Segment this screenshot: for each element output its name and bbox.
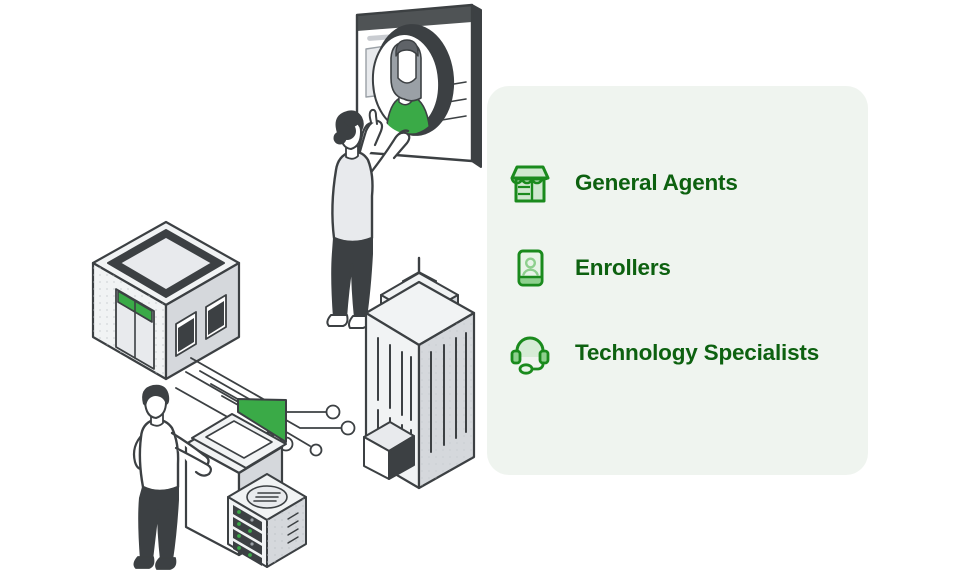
- technician-with-laptop: [134, 385, 286, 569]
- legend-list: General Agents Enrollers: [507, 160, 867, 376]
- id-badge-person-icon: [507, 245, 553, 291]
- legend-item-technology-specialists[interactable]: Technology Specialists: [507, 330, 867, 376]
- storefront-icon: [507, 160, 553, 206]
- office-tower-building: [364, 258, 474, 488]
- illustration-stage: General Agents Enrollers: [0, 0, 954, 572]
- headset-icon: [507, 330, 553, 376]
- retail-storefront-building: [93, 222, 239, 379]
- circuit-trace-lines: [176, 358, 355, 456]
- legend-item-general-agents[interactable]: General Agents: [507, 160, 867, 206]
- legend-label-enrollers: Enrollers: [575, 257, 671, 280]
- legend-item-enrollers[interactable]: Enrollers: [507, 245, 867, 291]
- standing-woman-reaching: [327, 110, 409, 328]
- legend-label-technology-specialists: Technology Specialists: [575, 342, 819, 365]
- server-rack: [228, 474, 306, 567]
- legend-label-general-agents: General Agents: [575, 172, 738, 195]
- profile-screen-card: [357, 5, 481, 167]
